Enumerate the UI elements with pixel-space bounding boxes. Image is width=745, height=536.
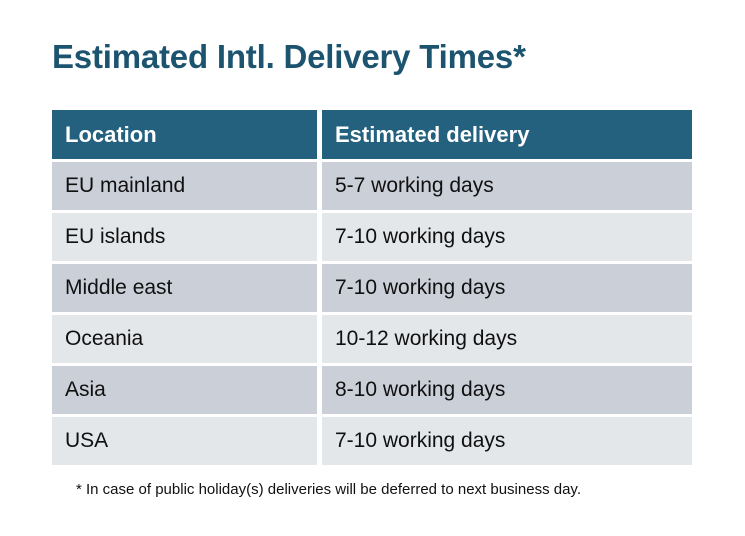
table-row: USA 7-10 working days [52,417,692,465]
footnote: * In case of public holiday(s) deliverie… [76,481,581,498]
cell-location: USA [52,417,317,465]
cell-location: EU mainland [52,162,317,210]
table-row: EU mainland 5-7 working days [52,162,692,210]
page-title: Estimated Intl. Delivery Times* [52,38,526,76]
table-header-row: Location Estimated delivery [52,110,692,159]
cell-estimated-delivery: 7-10 working days [322,213,692,261]
column-header-estimated-delivery: Estimated delivery [322,110,692,159]
delivery-times-table: Location Estimated delivery EU mainland … [52,110,692,468]
cell-location: EU islands [52,213,317,261]
cell-estimated-delivery: 5-7 working days [322,162,692,210]
table-row: Middle east 7-10 working days [52,264,692,312]
cell-estimated-delivery: 8-10 working days [322,366,692,414]
delivery-times-card: Estimated Intl. Delivery Times* Location… [0,0,745,536]
column-header-location: Location [52,110,317,159]
cell-location: Oceania [52,315,317,363]
table-row: Asia 8-10 working days [52,366,692,414]
table-row: Oceania 10-12 working days [52,315,692,363]
cell-estimated-delivery: 7-10 working days [322,264,692,312]
cell-location: Asia [52,366,317,414]
cell-location: Middle east [52,264,317,312]
cell-estimated-delivery: 7-10 working days [322,417,692,465]
table-row: EU islands 7-10 working days [52,213,692,261]
cell-estimated-delivery: 10-12 working days [322,315,692,363]
